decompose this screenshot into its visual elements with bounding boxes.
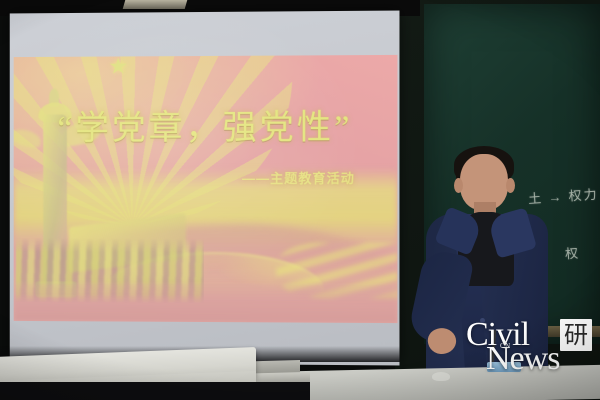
blue-tray-object: [487, 362, 521, 372]
presenter-ear-right: [506, 178, 515, 193]
chalk-text-line-2: 权: [564, 242, 580, 262]
projection-screen: “学党章，强党性” ——主题教育活动: [10, 11, 400, 366]
presenter: [398, 140, 548, 400]
screenshot-root: 土 → 权力 权 “学党章，强党性”: [0, 0, 600, 400]
slide-title: “学党章，强党性”: [14, 99, 398, 149]
floor-shadow: [0, 382, 310, 400]
slide-subtitle: ——主题教育活动: [242, 168, 355, 187]
jacket-button-2: [480, 318, 485, 323]
presenter-ear-left: [454, 178, 463, 193]
computer-mouse: [432, 372, 450, 381]
teacher-desk: [300, 365, 600, 400]
projected-slide: “学党章，强党性” ——主题教育活动: [14, 55, 398, 323]
slide-ground-band: [14, 283, 398, 323]
ceiling-light-fixture: [123, 0, 188, 9]
